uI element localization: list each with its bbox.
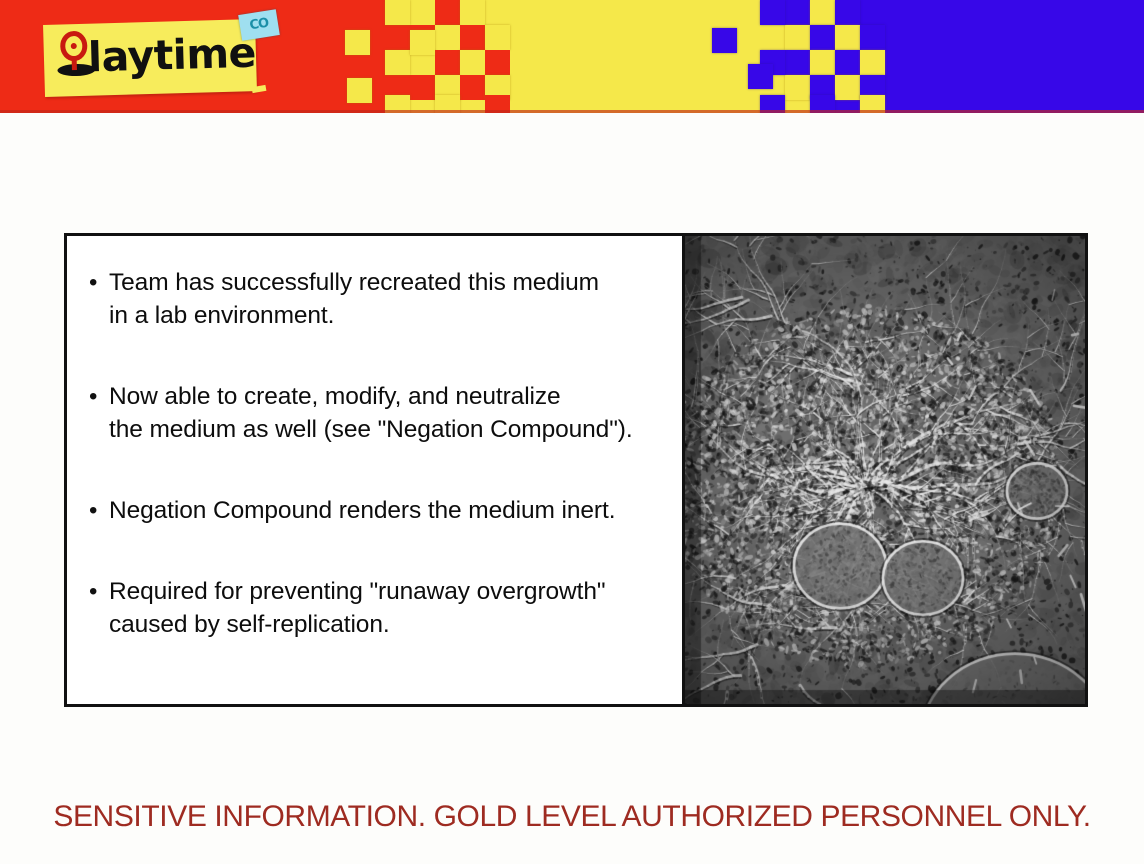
checker-stray-cell: [347, 78, 372, 103]
bullet-recreated-medium: •Team has successfully recreated this me…: [89, 266, 666, 332]
header-bottom-rule: [0, 110, 1144, 113]
logo-wordmark: laytime: [87, 29, 256, 82]
checker-cell: [835, 25, 860, 50]
header-banner: laytime CO: [0, 0, 1144, 113]
checker-cell: [810, 50, 835, 75]
checker-cell: [485, 50, 510, 75]
bullet-marker-icon: •: [89, 380, 109, 413]
checker-stray-cell: [410, 30, 435, 55]
checker-cell: [810, 25, 835, 50]
micrograph-panel: [682, 233, 1088, 707]
checker-cell: [860, 25, 885, 50]
checker-cell: [785, 50, 810, 75]
bullet-runaway-overgrowth: •Required for preventing "runaway overgr…: [89, 575, 666, 641]
bullet-negation-inert: •Negation Compound renders the medium in…: [89, 494, 666, 527]
bullet-text-panel: •Team has successfully recreated this me…: [64, 233, 682, 707]
bullet-text: Required for preventing "runaway overgro…: [109, 575, 666, 641]
footer-classification-notice: SENSITIVE INFORMATION. GOLD LEVEL AUTHOR…: [0, 800, 1144, 834]
bullet-create-modify-neutralize: •Now able to create, modify, and neutral…: [89, 380, 666, 446]
slide-content-box: •Team has successfully recreated this me…: [64, 233, 1088, 707]
checker-cell: [460, 25, 485, 50]
checker-stray-cell: [748, 64, 773, 89]
bullet-text: Team has successfully recreated this med…: [109, 266, 666, 332]
checker-cell: [785, 75, 810, 100]
checker-cell: [385, 50, 410, 75]
checker-cell: [385, 0, 410, 25]
checker-cell: [835, 75, 860, 100]
checker-cell: [860, 50, 885, 75]
checker-cell: [460, 75, 485, 100]
checker-cell: [435, 50, 460, 75]
checker-cell: [835, 0, 860, 25]
checker-cell: [410, 75, 435, 100]
bullet-marker-icon: •: [89, 575, 109, 608]
checker-cell: [760, 0, 785, 25]
checker-cell: [485, 25, 510, 50]
checker-cell: [410, 0, 435, 25]
bullet-text: Now able to create, modify, and neutrali…: [109, 380, 666, 446]
checker-cell: [460, 0, 485, 25]
bullet-marker-icon: •: [89, 266, 109, 299]
checker-cell: [435, 25, 460, 50]
bullet-text: Negation Compound renders the medium ine…: [109, 494, 666, 527]
checker-cell: [835, 50, 860, 75]
checker-cell: [460, 50, 485, 75]
bullet-list: •Team has successfully recreated this me…: [89, 266, 666, 641]
checker-cell: [785, 0, 810, 25]
checker-cell: [435, 0, 460, 25]
bullet-marker-icon: •: [89, 494, 109, 527]
checker-stray-cell: [345, 30, 370, 55]
checker-cell: [785, 25, 810, 50]
micrograph-image: [685, 236, 1085, 704]
checker-stray-cell: [712, 28, 737, 53]
checker-cell: [810, 0, 835, 25]
